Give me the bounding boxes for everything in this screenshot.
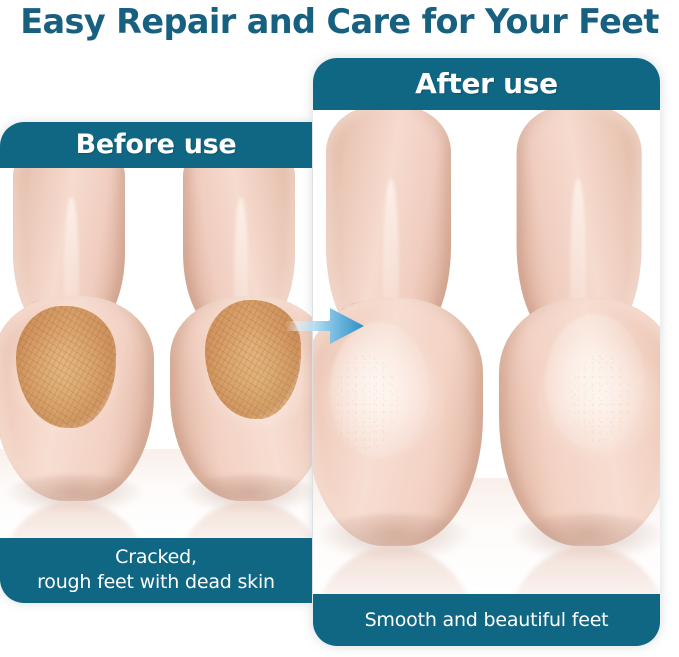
- caption-before-line-1: Cracked,: [0, 545, 312, 570]
- page-title: Easy Repair and Care for Your Feet: [5, 0, 674, 46]
- foot-right-smooth: [499, 146, 660, 546]
- banner-before-use-label: Before use: [0, 122, 312, 168]
- caption-before-use: Cracked, rough feet with dead skin: [0, 538, 312, 603]
- banner-after-use-label: After use: [313, 58, 660, 110]
- foot-left-cracked: [0, 171, 154, 501]
- panel-before-use: Before use: [0, 122, 312, 603]
- product-infographic: Easy Repair and Care for Your Feet Befor…: [0, 0, 679, 657]
- caption-after-use: Smooth and beautiful feet: [313, 594, 660, 646]
- photo-after-use: [313, 110, 660, 594]
- caption-before-line-2: rough feet with dead skin: [0, 570, 312, 595]
- skin-texture: [570, 354, 631, 442]
- photo-before-use: [0, 168, 312, 538]
- panel-after-use: After use: [313, 58, 660, 646]
- right-arrow-icon: [286, 304, 364, 348]
- skin-texture: [333, 354, 397, 450]
